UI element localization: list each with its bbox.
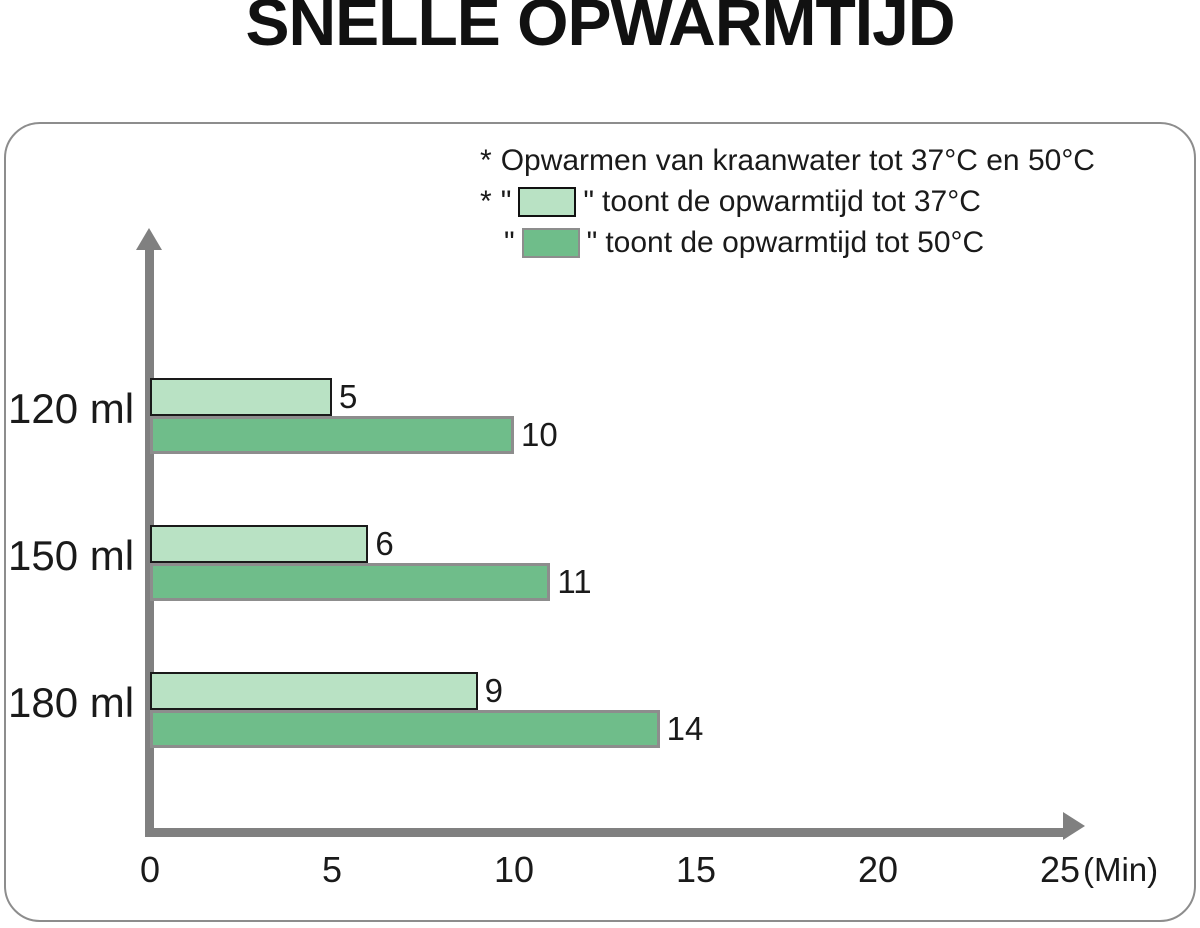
quote-close: " [583,181,594,222]
asterisk-icon: * [480,140,492,181]
page-title: SNELLE OPWARMTIJD [0,0,1200,60]
light-green-swatch-icon [518,187,576,217]
asterisk-icon: * [480,181,492,222]
quote-open: " [504,222,515,263]
quote-open: " [501,181,512,222]
legend-item-37c: * " " toont de opwarmtijd tot 37°C [480,181,1180,222]
legend-label-50c: toont de opwarmtijd tot 50°C [605,222,984,263]
legend-item-50c: " " toont de opwarmtijd tot 50°C [480,222,1180,263]
legend-line-note: * Opwarmen van kraanwater tot 37°C en 50… [480,140,1180,181]
dark-green-swatch-icon [522,228,580,258]
chart-legend: * Opwarmen van kraanwater tot 37°C en 50… [480,140,1180,263]
legend-note-text: Opwarmen van kraanwater tot 37°C en 50°C [501,140,1095,181]
quote-close: " [587,222,598,263]
legend-label-37c: toont de opwarmtijd tot 37°C [602,181,981,222]
